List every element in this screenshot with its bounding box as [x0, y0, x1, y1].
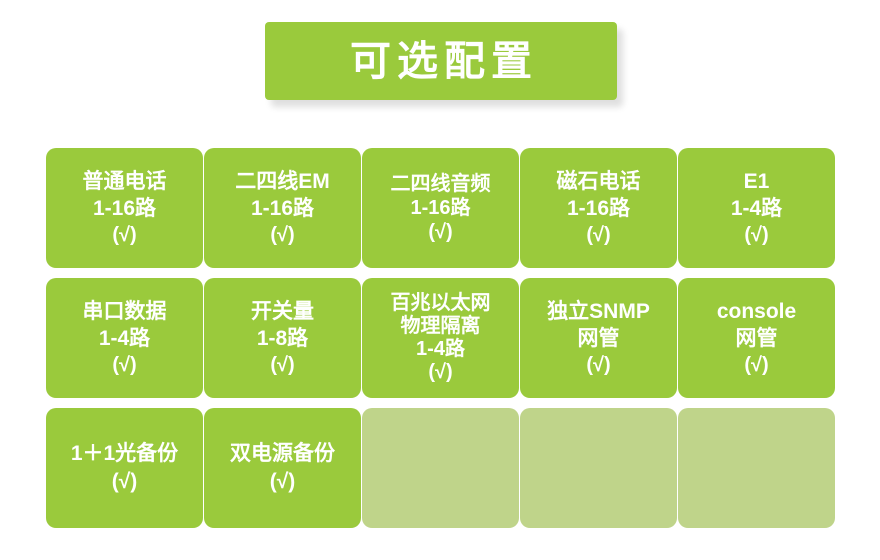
option-card[interactable]: 开关量 1-8路 (√): [204, 278, 361, 398]
option-card-placeholder: [520, 408, 677, 528]
option-card-line: 1-4路: [416, 338, 465, 361]
page-title-banner: 可选配置: [265, 22, 617, 100]
option-card-line: 1-4路: [99, 325, 150, 352]
option-card-line: 二四线EM: [235, 168, 330, 195]
option-card-check: (√): [112, 468, 138, 496]
option-card-line: 独立SNMP: [547, 298, 650, 325]
option-card-check: (√): [428, 220, 452, 244]
option-card-line: E1: [744, 168, 770, 195]
option-card-check: (√): [270, 468, 296, 496]
option-card-check: (√): [270, 222, 294, 248]
option-card-line: 串口数据: [83, 298, 167, 325]
option-configuration-page: 可选配置 普通电话 1-16路 (√) 二四线EM 1-16路 (√) 二四线音…: [0, 0, 880, 560]
option-card-check: (√): [586, 352, 610, 378]
option-card[interactable]: 串口数据 1-4路 (√): [46, 278, 203, 398]
option-card[interactable]: 二四线EM 1-16路 (√): [204, 148, 361, 268]
option-card-line: 磁石电话: [557, 168, 641, 195]
option-card-check: (√): [744, 352, 768, 378]
option-card[interactable]: E1 1-4路 (√): [678, 148, 835, 268]
option-card[interactable]: 1＋1光备份 (√): [46, 408, 203, 528]
option-card-check: (√): [586, 222, 610, 248]
option-card-line: 双电源备份: [230, 440, 335, 468]
option-card[interactable]: 百兆以太网 物理隔离 1-4路 (√): [362, 278, 519, 398]
option-card-line: 开关量: [251, 298, 314, 325]
option-card-line: 网管: [578, 325, 620, 352]
option-card-line: 1-16路: [567, 195, 630, 222]
option-card-check: (√): [270, 352, 294, 378]
option-card-check: (√): [744, 222, 768, 248]
option-card[interactable]: 双电源备份 (√): [204, 408, 361, 528]
option-card-line: 1-16路: [93, 195, 156, 222]
option-card-line: 1＋1光备份: [71, 440, 178, 468]
option-card-check: (√): [428, 361, 452, 384]
options-grid: 普通电话 1-16路 (√) 二四线EM 1-16路 (√) 二四线音频 1-1…: [46, 148, 836, 528]
option-card-line: 二四线音频: [391, 172, 491, 196]
option-card-line: console: [717, 298, 796, 325]
option-card[interactable]: 二四线音频 1-16路 (√): [362, 148, 519, 268]
option-card-placeholder: [362, 408, 519, 528]
option-card-line: 百兆以太网: [391, 292, 491, 315]
option-card-placeholder: [678, 408, 835, 528]
option-card-line: 1-8路: [257, 325, 308, 352]
option-card[interactable]: 磁石电话 1-16路 (√): [520, 148, 677, 268]
option-card[interactable]: 普通电话 1-16路 (√): [46, 148, 203, 268]
option-card-line: 1-16路: [410, 196, 470, 220]
option-card-line: 1-16路: [251, 195, 314, 222]
option-card-check: (√): [112, 222, 136, 248]
option-card-line: 网管: [736, 325, 778, 352]
option-card-check: (√): [112, 352, 136, 378]
option-card[interactable]: 独立SNMP 网管 (√): [520, 278, 677, 398]
option-card[interactable]: console 网管 (√): [678, 278, 835, 398]
option-card-line: 物理隔离: [401, 315, 481, 338]
page-title: 可选配置: [344, 41, 538, 82]
option-card-line: 普通电话: [83, 168, 167, 195]
option-card-line: 1-4路: [731, 195, 782, 222]
